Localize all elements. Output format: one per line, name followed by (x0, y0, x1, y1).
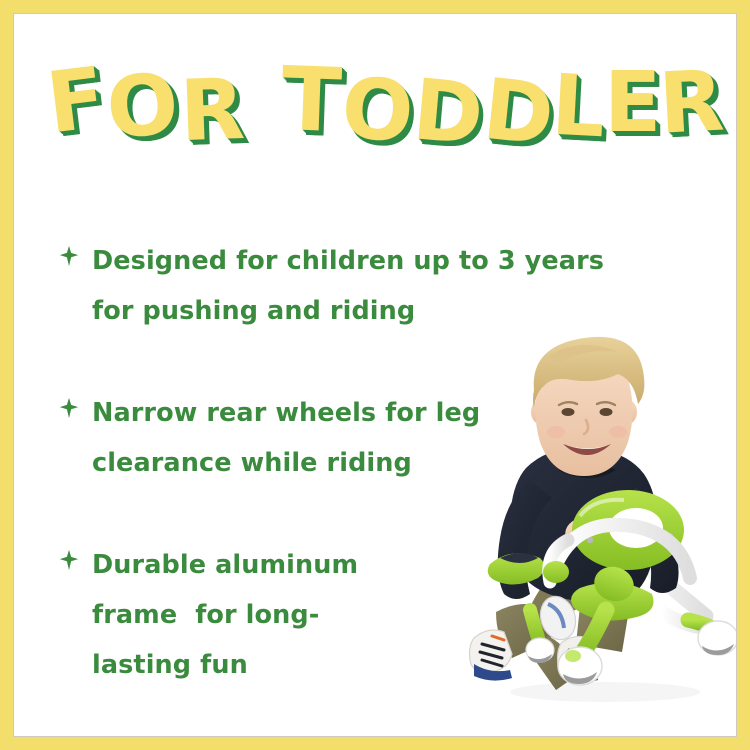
list-item-label: Narrow rear wheels for leg clearance whi… (92, 388, 512, 488)
page-title: F O R T O D D L E R (0, 54, 750, 172)
star-bullet-icon (58, 236, 84, 270)
title-letter: E (604, 60, 661, 144)
list-item: Narrow rear wheels for leg clearance whi… (58, 388, 678, 488)
list-item-label: Designed for children up to 3 years for … (92, 236, 652, 336)
star-bullet-icon (58, 540, 84, 574)
title-letter: T (279, 55, 342, 145)
title-letter: R (657, 58, 726, 145)
title-letter: L (550, 63, 608, 150)
feature-list: Designed for children up to 3 years for … (58, 236, 678, 690)
title-letter: D (479, 67, 557, 158)
list-item-label: Durable aluminum frame for long-lasting … (92, 540, 392, 690)
title-letter: D (410, 67, 487, 157)
star-bullet-icon (58, 388, 84, 422)
title-letter: F (42, 55, 109, 145)
title-letters: F O R T O D D L E R (52, 54, 726, 142)
list-item: Durable aluminum frame for long-lasting … (58, 540, 678, 690)
title-letter: O (104, 62, 181, 151)
poster-card: F O R T O D D L E R Designed for childre… (0, 0, 750, 750)
title-letter: O (339, 66, 416, 155)
title-letter: R (178, 67, 246, 153)
list-item: Designed for children up to 3 years for … (58, 236, 678, 336)
